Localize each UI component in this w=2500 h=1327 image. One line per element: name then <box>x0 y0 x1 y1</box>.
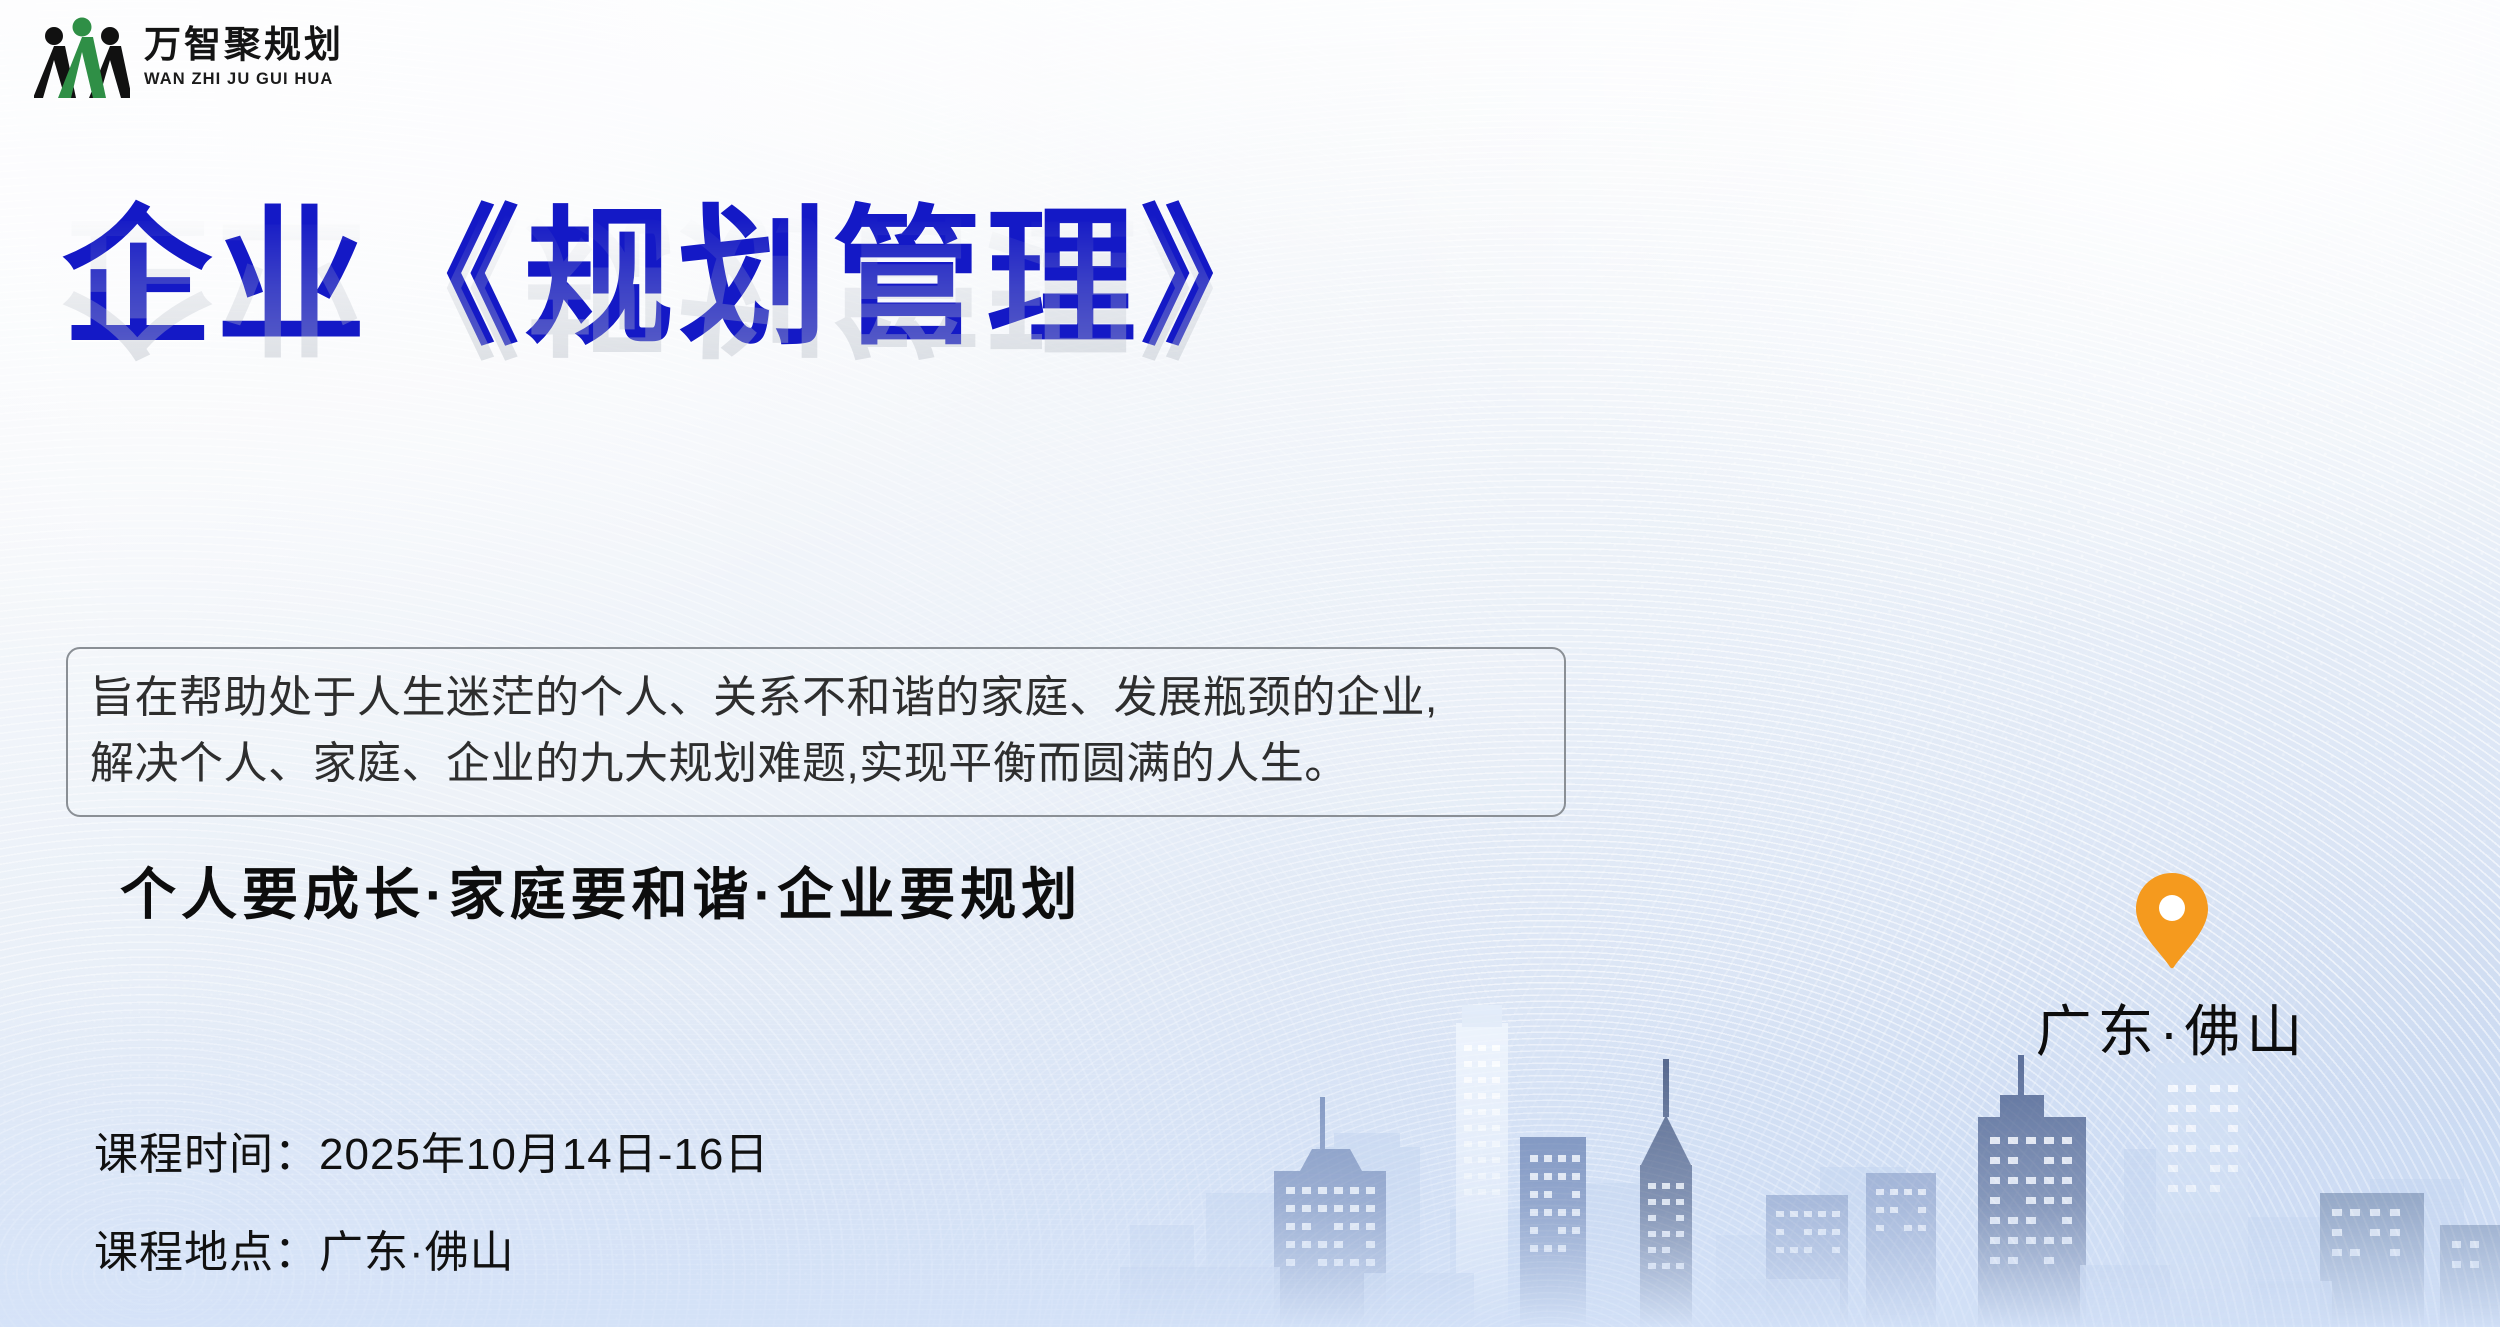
brand-logo: 万智聚规划 WAN ZHI JU GUI HUA <box>34 16 344 98</box>
course-info: 课程时间：2025年10月14日-16日 课程地点：广东·佛山 <box>94 1118 769 1280</box>
page-title: 企业《规划管理》 <box>62 196 1762 361</box>
main-title-block: 企业《规划管理》 企业《规划管理》 <box>62 196 1762 530</box>
description-box: 旨在帮助处于人生迷茫的个人、关系不和谐的家庭、发展瓶颈的企业, 解决个人、家庭、… <box>66 647 1566 817</box>
location-badge: 广东·佛山 <box>1962 873 2382 1068</box>
course-time-row: 课程时间：2025年10月14日-16日 <box>94 1118 769 1182</box>
three-people-logo-icon <box>34 16 130 98</box>
brand-name-cn: 万智聚规划 <box>144 27 344 64</box>
tagline: 个人要成长·家庭要和谐·企业要规划 <box>120 850 1082 931</box>
description-line-2: 解决个人、家庭、企业的九大规划难题,实现平衡而圆满的人生。 <box>90 731 1542 797</box>
map-pin-icon <box>1962 873 2382 969</box>
brand-logo-text: 万智聚规划 WAN ZHI JU GUI HUA <box>144 27 344 88</box>
course-place-row: 课程地点：广东·佛山 <box>94 1216 769 1280</box>
location-label: 广东·佛山 <box>1962 987 2382 1068</box>
promo-poster: 万智聚规划 WAN ZHI JU GUI HUA 企业《规划管理》 企业《规划管… <box>0 0 2500 1327</box>
description-line-1: 旨在帮助处于人生迷茫的个人、关系不和谐的家庭、发展瓶颈的企业, <box>90 665 1542 731</box>
brand-name-en: WAN ZHI JU GUI HUA <box>144 71 344 88</box>
